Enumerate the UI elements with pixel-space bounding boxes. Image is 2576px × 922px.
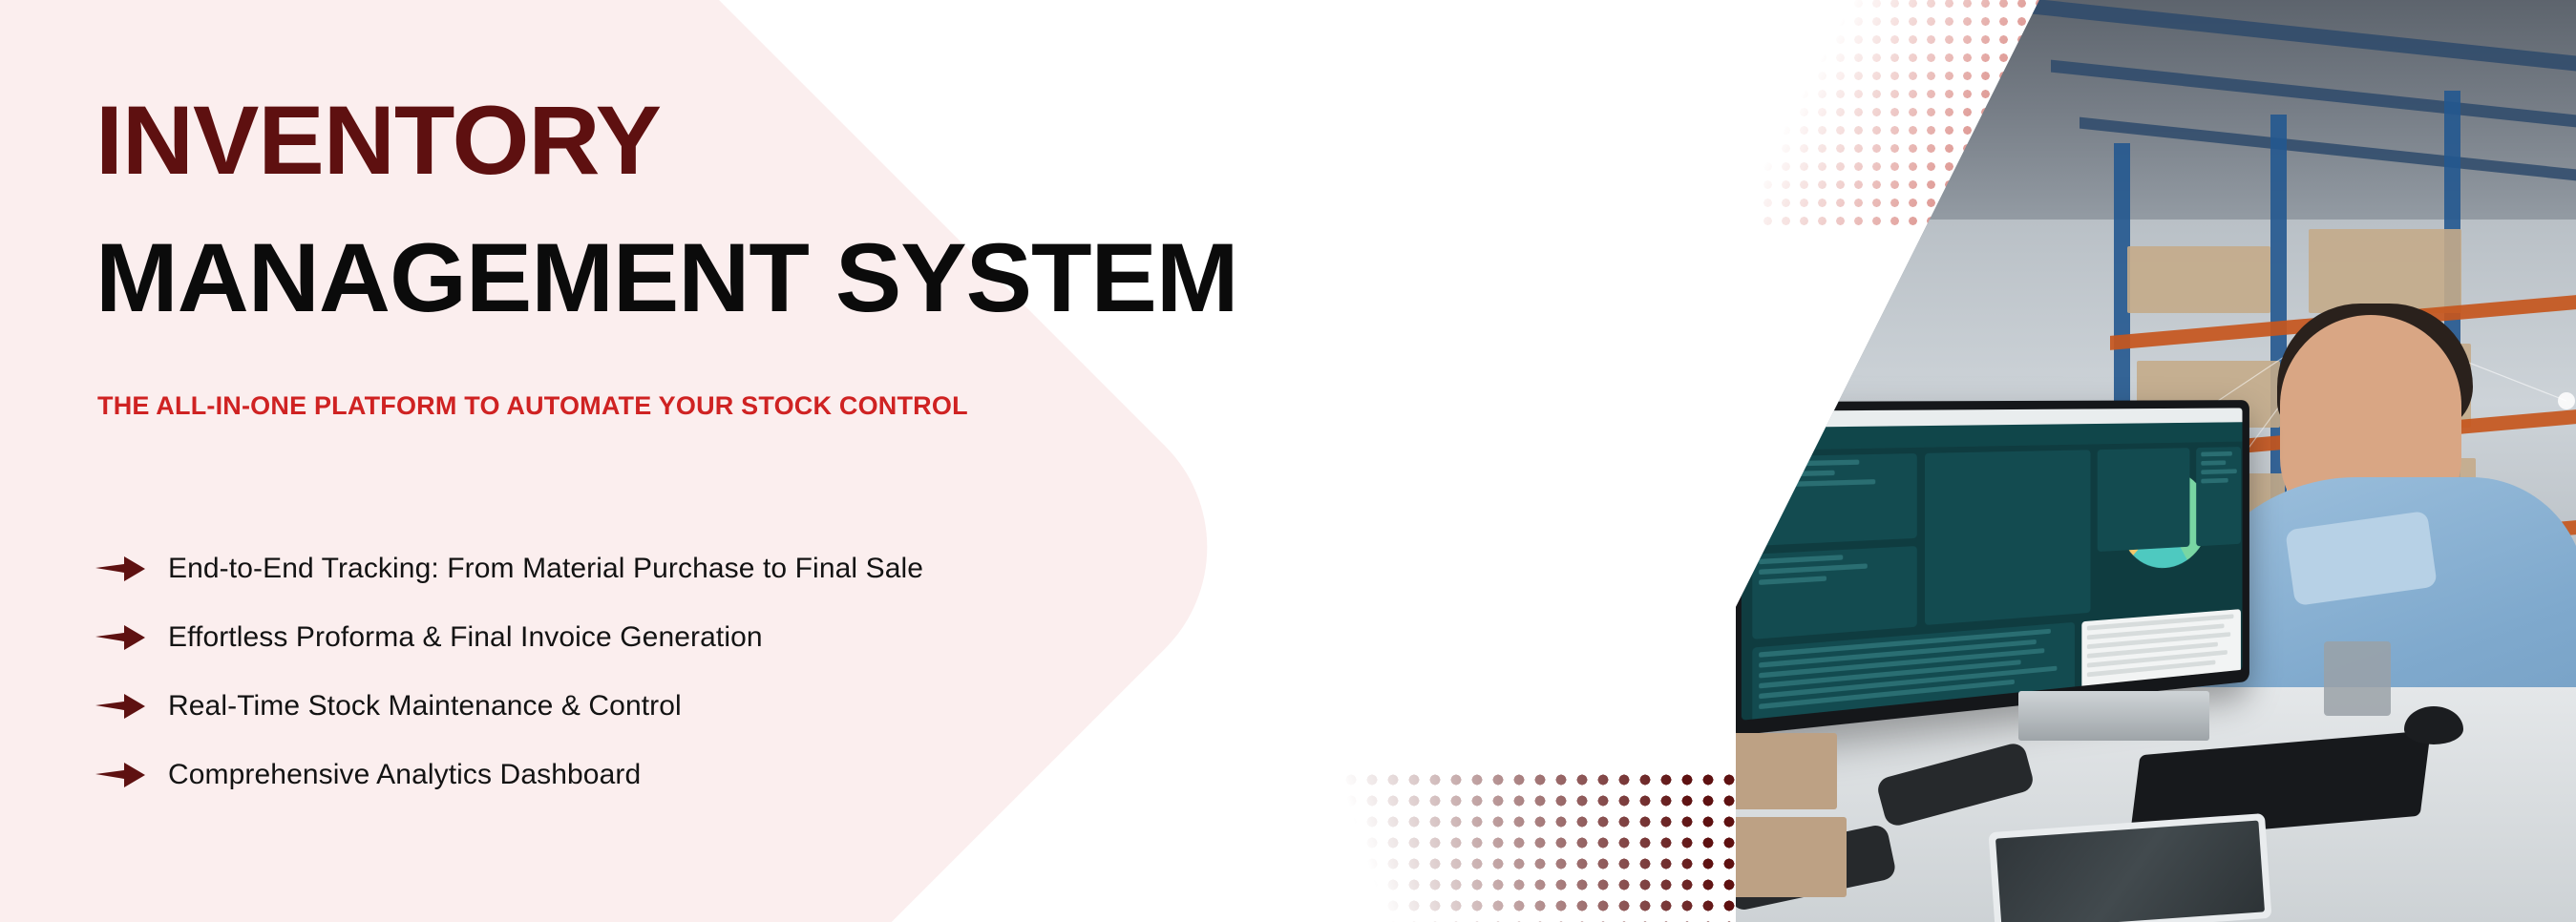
feature-label: Comprehensive Analytics Dashboard — [168, 759, 641, 791]
list-item: Comprehensive Analytics Dashboard — [95, 741, 923, 809]
close-dot-icon — [1751, 435, 1760, 444]
feature-label: Effortless Proforma & Final Invoice Gene… — [168, 621, 763, 654]
list-item: Effortless Proforma & Final Invoice Gene… — [95, 603, 923, 672]
feature-label: Real-Time Stock Maintenance & Control — [168, 690, 682, 723]
page-title-line1: INVENTORY — [95, 92, 661, 189]
feature-label: End-to-End Tracking: From Material Purch… — [168, 553, 923, 585]
cardboard-box — [1736, 817, 1847, 897]
monitor — [1736, 400, 2249, 736]
list-item: Real-Time Stock Maintenance & Control — [95, 672, 923, 741]
status-dot-icon — [1784, 434, 1792, 443]
list-item: End-to-End Tracking: From Material Purch… — [95, 534, 923, 603]
page-subtitle: THE ALL-IN-ONE PLATFORM TO AUTOMATE YOUR… — [97, 391, 968, 421]
arrow-right-icon — [95, 692, 145, 721]
dashboard-line-card — [2098, 448, 2190, 552]
banner-content: INVENTORY MANAGEMENT SYSTEM THE ALL-IN-O… — [95, 0, 1528, 922]
status-dot-icon — [1800, 434, 1808, 443]
cardboard-box — [1736, 733, 1837, 809]
tablet-map-screen — [1995, 820, 2265, 922]
feature-list: End-to-End Tracking: From Material Purch… — [95, 534, 923, 809]
status-dot-icon — [1767, 434, 1776, 443]
dashboard-legend-card — [1752, 546, 1916, 639]
hero-photo — [1736, 0, 2576, 922]
book-stack — [2018, 691, 2209, 741]
pallet-box — [1856, 11, 1980, 108]
dashboard-donut-card — [1925, 450, 2090, 625]
arrow-right-icon — [95, 761, 145, 789]
dashboard-stats-card — [2196, 447, 2241, 546]
tablet — [1989, 813, 2272, 922]
page-title-line2: MANAGEMENT SYSTEM — [95, 229, 1238, 326]
dashboard-body — [1742, 442, 2243, 721]
dashboard-screen — [1742, 408, 2243, 720]
inventory-banner: INVENTORY MANAGEMENT SYSTEM THE ALL-IN-O… — [0, 0, 2576, 922]
arrow-right-icon — [95, 555, 145, 583]
mouse — [2404, 706, 2463, 744]
pencil-holder — [2324, 641, 2391, 716]
dashboard-kpi-card — [1752, 453, 1916, 546]
arrow-right-icon — [95, 623, 145, 652]
